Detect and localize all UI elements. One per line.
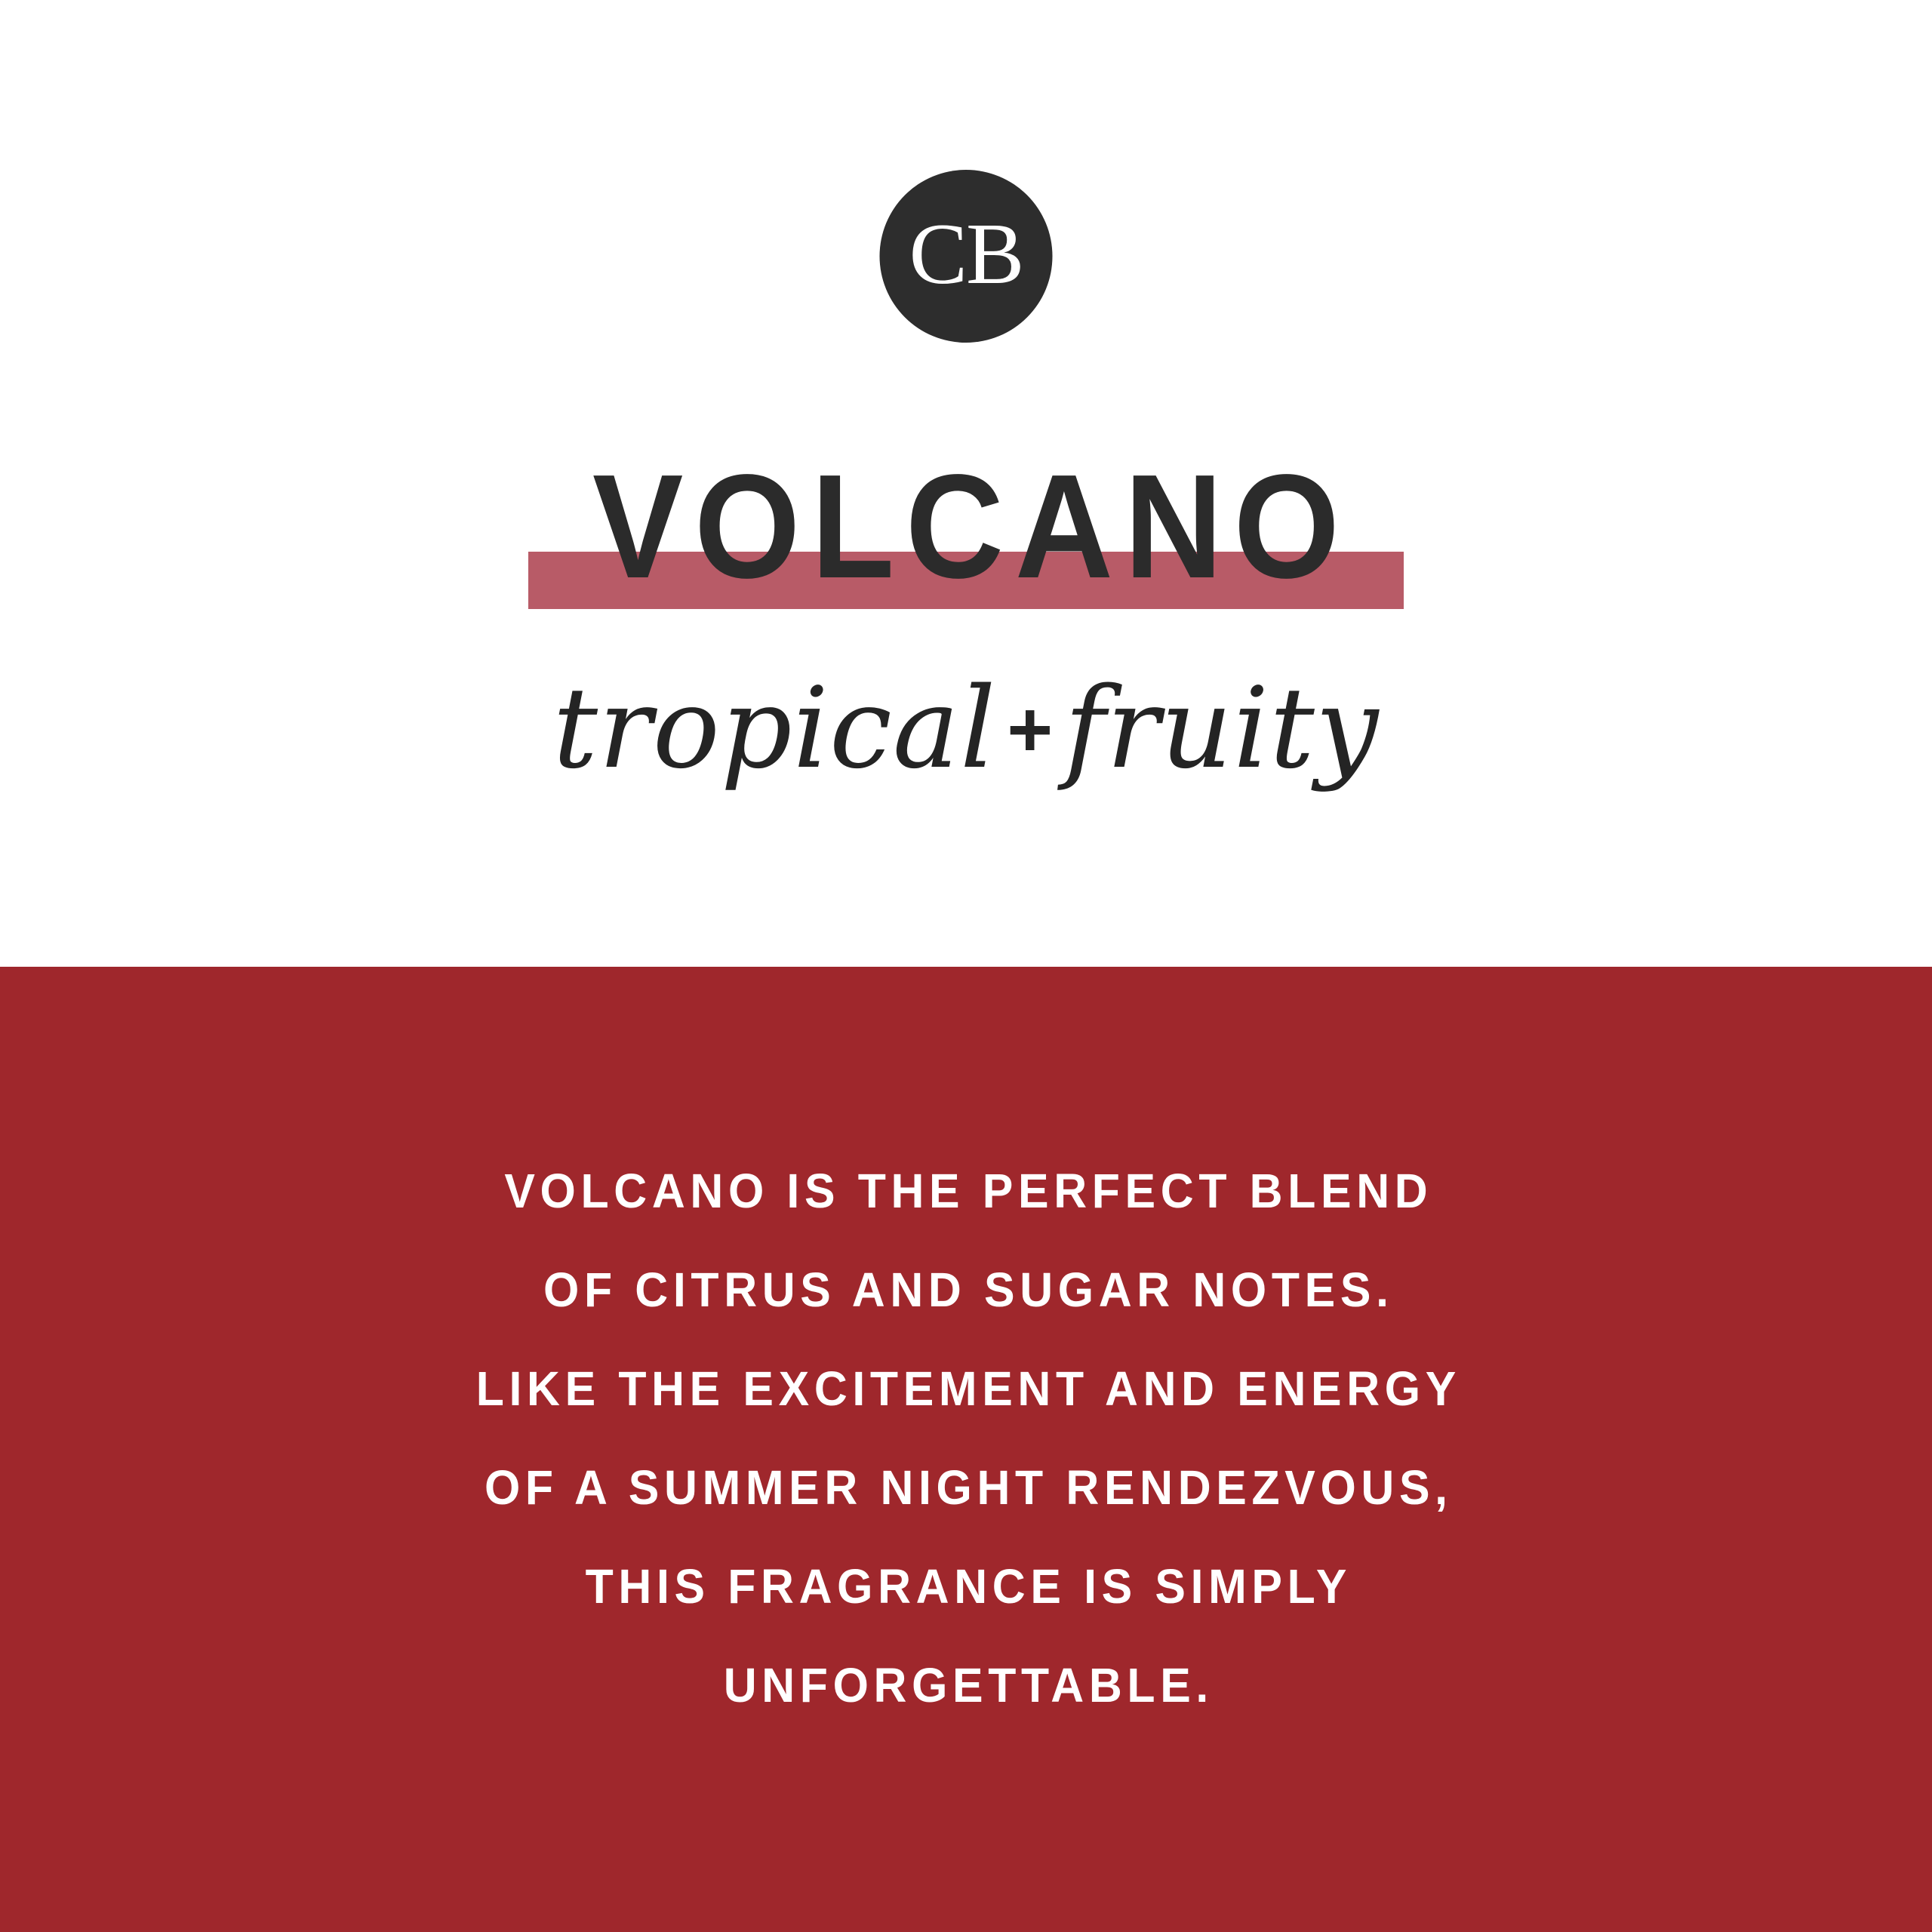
description-line: UNFORGETTABLE. [48, 1636, 1884, 1735]
page-title: VOLCANO [77, 453, 1854, 601]
brand-monogram-text: CB [909, 211, 1023, 298]
cb-monogram-circle-icon: CB [880, 170, 1053, 343]
product-fragrance-card: CB VOLCANO tropical+fruity VOLCANO IS TH… [0, 0, 1932, 1932]
header-section: CB VOLCANO tropical+fruity [0, 0, 1932, 967]
description-line: LIKE THE EXCITEMENT AND ENERGY [48, 1340, 1884, 1438]
description-section: VOLCANO IS THE PERFECT BLEND OF CITRUS A… [0, 967, 1932, 1932]
tagline-right-word: fruity [1064, 663, 1379, 793]
fragrance-description: VOLCANO IS THE PERFECT BLEND OF CITRUS A… [0, 1142, 1932, 1735]
description-line: THIS FRAGRANCE IS SIMPLY [48, 1537, 1884, 1636]
fragrance-tagline: tropical+fruity [0, 668, 1932, 790]
description-line: VOLCANO IS THE PERFECT BLEND [48, 1142, 1884, 1241]
description-line: OF A SUMMER NIGHT RENDEZVOUS, [48, 1438, 1884, 1537]
title-lockup: VOLCANO [0, 453, 1932, 649]
description-line: OF CITRUS AND SUGAR NOTES. [48, 1241, 1884, 1340]
tagline-left-word: tropical [553, 663, 997, 793]
plus-separator-icon: + [1007, 686, 1054, 774]
